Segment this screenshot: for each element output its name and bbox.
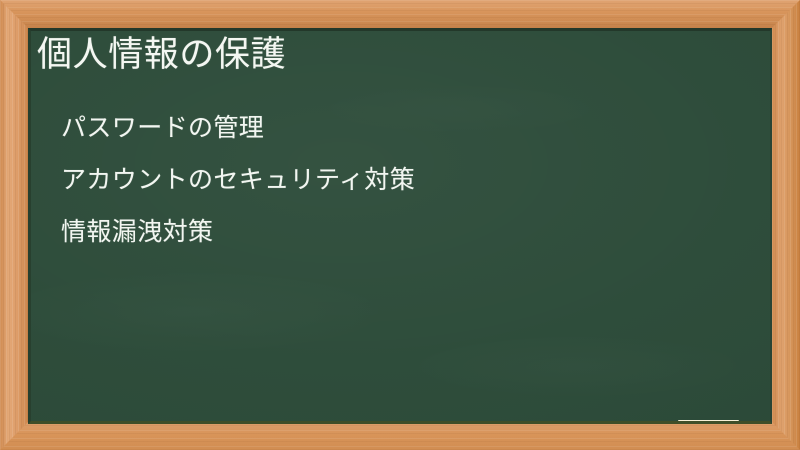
chalkboard-surface: 個人情報の保護 パスワードの管理 アカウントのセキュリティ対策 情報漏洩対策 bbox=[28, 28, 772, 424]
chalkboard-slide: 個人情報の保護 パスワードの管理 アカウントのセキュリティ対策 情報漏洩対策 bbox=[0, 0, 800, 450]
topic-list: パスワードの管理 アカウントのセキュリティ対策 情報漏洩対策 bbox=[61, 113, 415, 247]
frame-right-stile bbox=[772, 0, 800, 450]
list-item: パスワードの管理 bbox=[61, 113, 415, 143]
chalk-stick-icon bbox=[678, 420, 739, 424]
page-title: 個人情報の保護 bbox=[37, 34, 286, 78]
frame-bottom-rail bbox=[0, 422, 800, 450]
list-item: 情報漏洩対策 bbox=[61, 217, 415, 247]
chalkboard-content: 個人情報の保護 パスワードの管理 アカウントのセキュリティ対策 情報漏洩対策 bbox=[31, 31, 770, 421]
frame-left-stile bbox=[0, 0, 28, 450]
frame-top-rail bbox=[0, 0, 800, 28]
list-item: アカウントのセキュリティ対策 bbox=[61, 165, 415, 195]
